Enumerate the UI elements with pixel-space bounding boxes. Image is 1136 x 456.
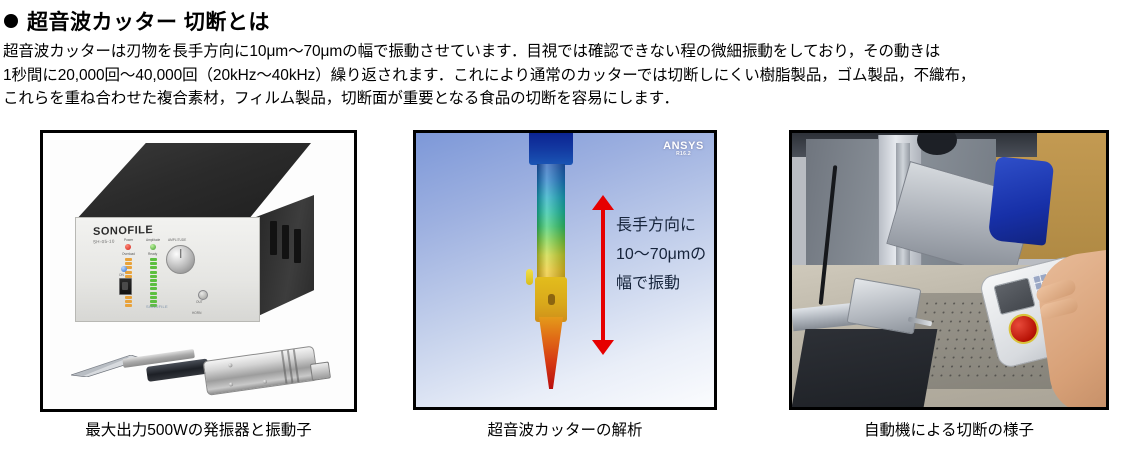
- generator-model-label: SH-05-10: [93, 239, 115, 245]
- vertical-double-arrow-icon: [592, 195, 614, 355]
- description-line-2: 1秒間に20,000回〜40,000回（20kHz〜40kHz）繰り返されます．…: [3, 64, 1133, 88]
- blade-fea-model: [520, 130, 582, 387]
- fea-simulation-image: ANSYS R16.2: [416, 133, 714, 407]
- overload-led-icon: [125, 244, 131, 250]
- output-connector-icon[interactable]: [198, 290, 208, 300]
- knob-label: AMPLITUDE: [168, 238, 186, 242]
- generator-side-panel: [256, 195, 314, 317]
- description-paragraph: 超音波カッターは刃物を長手方向に10μm〜70μmの幅で振動させています．目視で…: [3, 40, 1133, 111]
- blade-holder: [535, 277, 567, 322]
- meter-right-bottom-label: Ready: [148, 252, 157, 256]
- page-title-text: 超音波カッター 切断とは: [27, 11, 270, 34]
- pendant-screen: [993, 277, 1035, 315]
- figure-generator-and-transducer: SONOFILE SH-05-10 Power Overload: [40, 130, 357, 412]
- ansys-logo-release: R16.2: [663, 152, 704, 157]
- figure-1-caption: 最大出力500Wの発振器と振動子: [40, 418, 357, 440]
- screw-icon: [228, 363, 233, 368]
- figure-row: SONOFILE SH-05-10 Power Overload: [0, 130, 1136, 456]
- vent-slot-icon: [282, 225, 289, 259]
- vent-slot-icon: [270, 221, 277, 255]
- generator-top-lid: [75, 143, 311, 221]
- generator-front-panel: SONOFILE SH-05-10 Power Overload: [75, 217, 260, 322]
- blade-tip: [539, 317, 563, 389]
- figure-2-frame: ANSYS R16.2: [413, 130, 717, 410]
- blue-cover: [988, 156, 1054, 246]
- meter-left-top-label: Power: [124, 238, 133, 242]
- figure-1-frame: SONOFILE SH-05-10 Power Overload: [40, 130, 357, 412]
- output-sub-label: HORN: [192, 311, 201, 315]
- figure-3-caption: 自動機による切断の様子: [789, 418, 1109, 440]
- filled-circle-bullet-icon: [4, 14, 18, 28]
- power-switch[interactable]: [119, 278, 132, 295]
- transducer-end-cap: [310, 361, 331, 380]
- vent-slot-icon: [294, 229, 301, 263]
- output-label: OUT: [196, 300, 203, 304]
- description-line-1: 超音波カッターは刃物を長手方向に10μm〜70μmの幅で振動させています．目視で…: [3, 40, 1133, 64]
- fea-annotation: 長手方向に 10〜70μmの 幅で振動: [616, 211, 717, 298]
- page-title: 超音波カッター 切断とは: [4, 6, 270, 36]
- description-line-3: これらを重ね合わせた複合素材，フィルム製品，切断面が重要となる食品の切断を容易に…: [3, 87, 1133, 111]
- amplitude-knob[interactable]: [166, 245, 195, 274]
- transducer-body: [203, 346, 319, 396]
- black-cutting-mat: [792, 329, 937, 407]
- figure-2-caption: 超音波カッターの解析: [413, 418, 717, 440]
- ready-led-icon: [150, 244, 156, 250]
- blade-head: [529, 130, 573, 165]
- screw-icon: [229, 382, 234, 387]
- meter-right-top-label: Amplitude: [146, 238, 160, 242]
- machine-photo: [792, 133, 1106, 407]
- figure-automatic-cutting-machine: 自動機による切断の様子: [789, 130, 1109, 410]
- blade-pin: [526, 269, 533, 285]
- holder-hole-icon: [548, 294, 555, 305]
- power-led-icon: [121, 266, 127, 272]
- figure-3-frame: [789, 130, 1109, 410]
- fea-annotation-line-3: 幅で振動: [616, 269, 717, 298]
- power-label: ON: [119, 273, 124, 277]
- generator-photo: SONOFILE SH-05-10 Power Overload: [43, 133, 354, 409]
- fea-annotation-line-2: 10〜70μmの: [616, 240, 717, 269]
- figure-fea-analysis: ANSYS R16.2: [413, 130, 717, 410]
- blade-neck: [537, 164, 565, 284]
- amplitude-bar-meter: [150, 258, 157, 308]
- fea-annotation-line-1: 長手方向に: [616, 211, 717, 240]
- emergency-stop-button[interactable]: [1005, 311, 1041, 347]
- generator-brand-label: SONOFILE: [93, 224, 153, 238]
- meter-left-bottom-label: Overload: [122, 252, 135, 256]
- generator-logo-text: SONOFILE: [146, 304, 168, 309]
- screw-icon: [263, 379, 268, 384]
- ansys-watermark: ANSYS R16.2: [663, 141, 704, 157]
